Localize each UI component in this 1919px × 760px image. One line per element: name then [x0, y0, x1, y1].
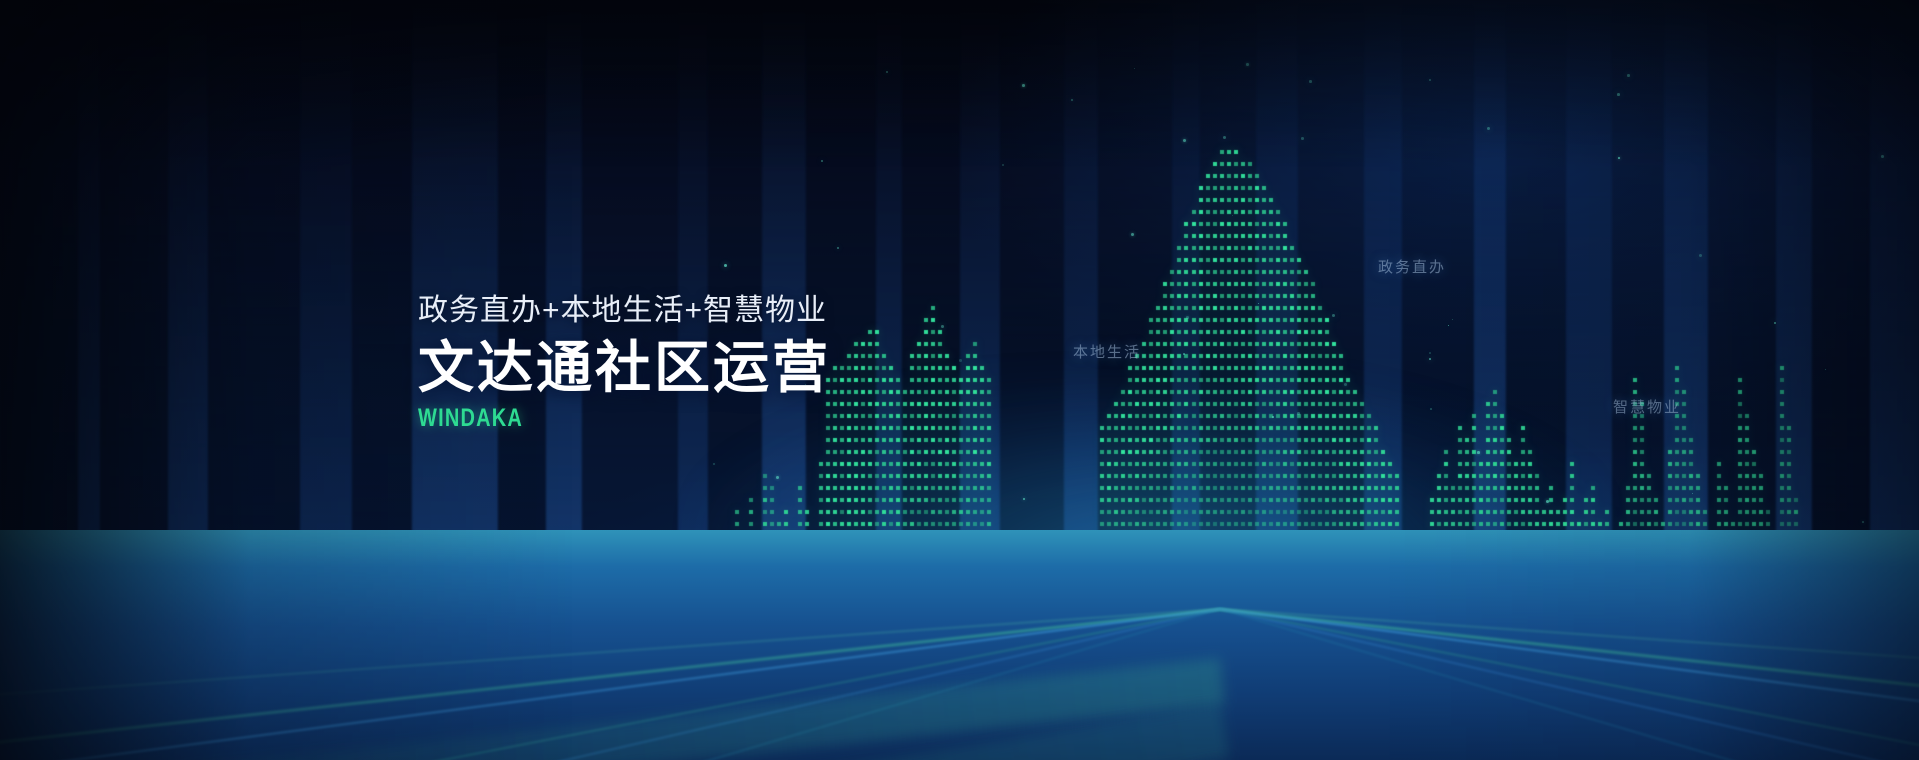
hero-text-block: 政务直办+本地生活+智慧物业 文达通社区运营 WINDAKA [418, 292, 831, 433]
hero-subtitle: 政务直办+本地生活+智慧物业 [418, 292, 831, 330]
floating-label: 政务直办 [1378, 256, 1446, 277]
ground-plane [0, 520, 1919, 760]
hero-banner: 政务直办本地生活智慧物业 政务直办+本地生活+智慧物业 文达通社区运营 WIND… [0, 0, 1919, 760]
floating-label: 本地生活 [1073, 341, 1141, 362]
hero-title: 文达通社区运营 [418, 338, 831, 398]
brand-wordmark: WINDAKA [418, 404, 748, 433]
floating-label: 智慧物业 [1613, 396, 1681, 417]
